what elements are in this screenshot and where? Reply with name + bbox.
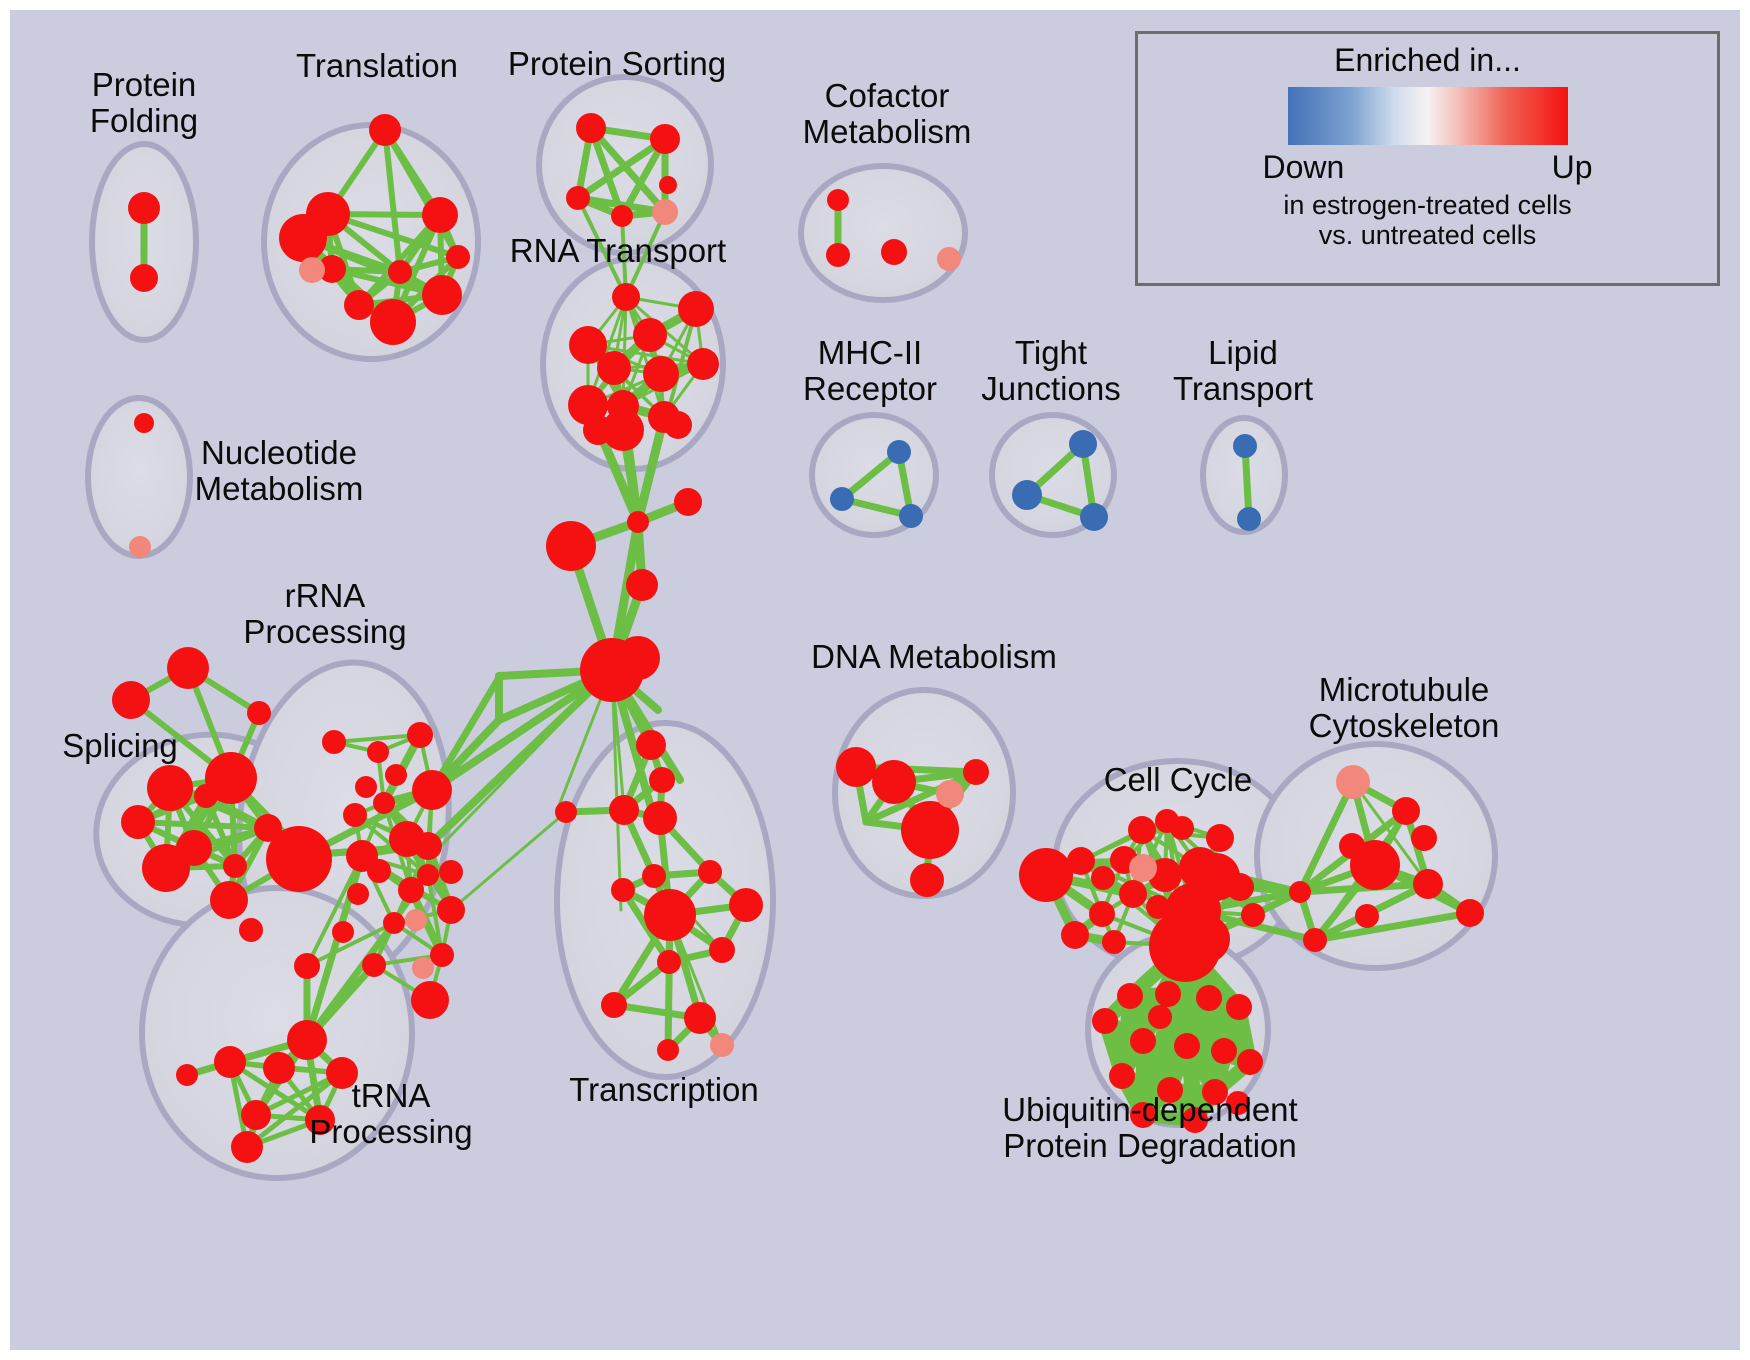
cluster-label-dna-metabolism: DNA Metabolism bbox=[811, 639, 1057, 675]
legend-caption-line1: in estrogen-treated cells bbox=[1283, 190, 1571, 220]
legend-down-label: Down bbox=[1263, 149, 1345, 186]
cluster-label-nucleotide-metabolism: Nucleotide Metabolism bbox=[195, 435, 364, 506]
figure-root: Protein Folding Translation Protein Sort… bbox=[0, 0, 1750, 1360]
legend-box: Enriched in... Down Up in estrogen-treat… bbox=[1135, 31, 1720, 286]
cluster-label-protein-sorting: Protein Sorting bbox=[508, 46, 726, 82]
cluster-label-mhc-ii-receptor: MHC-II Receptor bbox=[803, 335, 937, 406]
cluster-label-splicing: Splicing bbox=[62, 728, 178, 764]
cluster-label-cofactor-metabolism: Cofactor Metabolism bbox=[803, 78, 972, 149]
cluster-label-lipid-transport: Lipid Transport bbox=[1173, 335, 1313, 406]
cluster-label-protein-folding: Protein Folding bbox=[90, 67, 198, 138]
cluster-label-ubiquitin: Ubiquitin-dependent Protein Degradation bbox=[1002, 1092, 1297, 1163]
cluster-label-transcription: Transcription bbox=[569, 1072, 759, 1108]
hull-cofactor bbox=[801, 166, 965, 300]
edges-rrna-thin-long bbox=[451, 812, 566, 910]
legend-title: Enriched in... bbox=[1334, 42, 1521, 79]
legend-up-label: Up bbox=[1552, 149, 1593, 186]
legend-caption-line2: vs. untreated cells bbox=[1283, 220, 1571, 250]
cluster-label-microtubule: Microtubule Cytoskeleton bbox=[1309, 672, 1500, 743]
legend-end-labels: Down Up bbox=[1263, 149, 1593, 186]
cluster-label-translation: Translation bbox=[296, 48, 458, 84]
network-canvas: Protein Folding Translation Protein Sort… bbox=[10, 10, 1740, 1350]
cluster-label-tight-junctions: Tight Junctions bbox=[981, 335, 1120, 406]
cluster-label-rna-transport: RNA Transport bbox=[510, 233, 726, 269]
legend-color-gradient-bar bbox=[1288, 87, 1568, 145]
cluster-label-trna-processing: tRNA Processing bbox=[309, 1078, 472, 1149]
legend-caption: in estrogen-treated cells vs. untreated … bbox=[1283, 190, 1571, 250]
cluster-label-cell-cycle: Cell Cycle bbox=[1104, 762, 1253, 798]
cluster-label-rrna-processing: rRNA Processing bbox=[243, 578, 406, 649]
